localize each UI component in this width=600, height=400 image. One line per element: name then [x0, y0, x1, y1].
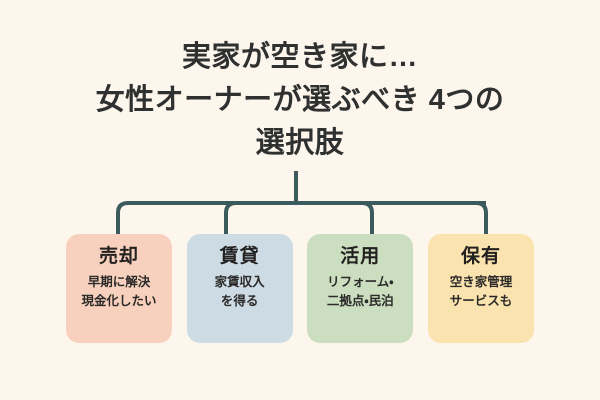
connector-drop-2 [226, 203, 296, 234]
page-title: 実家が空き家に… 女性オーナーが選ぶべき 4つの 選択肢 [0, 36, 600, 165]
page-title-line-3: 選択肢 [0, 122, 600, 165]
option-description-line-2: を得る [215, 292, 265, 311]
page-title-line-2: 女性オーナーが選ぶべき 4つの [0, 79, 600, 122]
option-card-sale[interactable]: 売却 早期に解決 現金化したい [66, 234, 172, 343]
option-card-rent[interactable]: 賃貸 家賃収入 を得る [187, 234, 293, 343]
option-description-line-1: 家賃収入 [215, 273, 265, 292]
option-description: 家賃収入 を得る [215, 273, 265, 311]
page-title-line-1: 実家が空き家に… [0, 36, 600, 79]
connector-bar-right [128, 203, 486, 234]
option-card-hold[interactable]: 保有 空き家管理 サービスも [428, 234, 534, 343]
connector-drop-3 [296, 203, 372, 234]
connector-bar-left [118, 203, 486, 234]
option-description-line-1: 早期に解決 [81, 273, 156, 292]
option-description-line-2: 二拠点・民泊 [327, 292, 394, 311]
option-heading: 賃貸 [220, 243, 260, 270]
option-description-line-2: サービスも [450, 292, 513, 311]
option-heading: 売却 [99, 243, 139, 270]
option-description: リフォーム・ 二拠点・民泊 [327, 273, 394, 311]
option-description: 早期に解決 現金化したい [81, 273, 156, 311]
option-description-line-1: リフォーム・ [327, 273, 394, 292]
option-description-line-1: 空き家管理 [450, 273, 513, 292]
option-description-line-2: 現金化したい [81, 292, 156, 311]
options-row: 売却 早期に解決 現金化したい 賃貸 家賃収入 を得る 活用 リフォーム・ 二拠… [66, 234, 534, 343]
option-description: 空き家管理 サービスも [450, 273, 513, 311]
option-heading: 活用 [340, 243, 380, 270]
option-heading: 保有 [461, 243, 501, 270]
infographic-canvas: 実家が空き家に… 女性オーナーが選ぶべき 4つの 選択肢 売却 早期に解決 現金… [0, 0, 600, 400]
option-card-utilize[interactable]: 活用 リフォーム・ 二拠点・民泊 [307, 234, 413, 343]
